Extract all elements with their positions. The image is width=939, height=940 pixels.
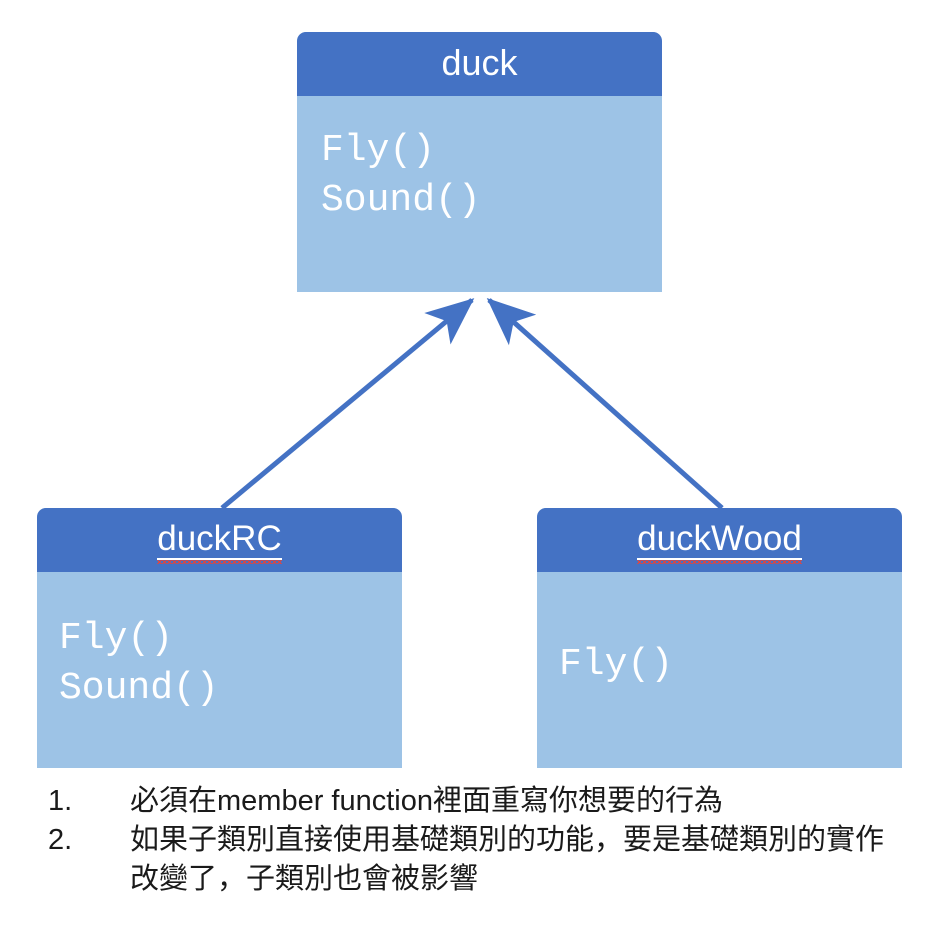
class-box-duckrc[interactable]: duckRC Fly() Sound() — [37, 508, 402, 768]
class-header-duckwood: duckWood — [537, 508, 902, 572]
class-body-duckwood: Fly() — [537, 572, 902, 690]
class-title-duckrc: duckRC — [157, 521, 281, 560]
spellcheck-squiggle — [157, 560, 281, 564]
arrow-duckrc-to-duck — [222, 300, 472, 508]
note-number: 2. — [48, 821, 130, 860]
note-item: 1. 必須在member function裡面重寫你想要的行為 — [48, 782, 908, 821]
arrow-duckwood-to-duck — [489, 300, 722, 508]
class-body-duck: Fly() Sound() — [297, 96, 662, 226]
class-box-duckwood[interactable]: duckWood Fly() — [537, 508, 902, 768]
note-text: 如果子類別直接使用基礎類別的功能，要是基礎類別的實作改變了，子類別也會被影響 — [130, 821, 908, 899]
note-text: 必須在member function裡面重寫你想要的行為 — [130, 782, 908, 821]
note-number: 1. — [48, 782, 130, 821]
class-body-duckrc: Fly() Sound() — [37, 572, 402, 714]
class-title-duck: duck — [441, 45, 517, 83]
method-duckrc-1: Sound() — [59, 664, 380, 714]
method-duck-0: Fly() — [321, 126, 640, 176]
class-title-duckwood: duckWood — [637, 521, 802, 560]
class-box-duck[interactable]: duck Fly() Sound() — [297, 32, 662, 292]
class-header-duck: duck — [297, 32, 662, 96]
method-duckrc-0: Fly() — [59, 614, 380, 664]
method-duck-1: Sound() — [321, 176, 640, 226]
spellcheck-squiggle — [637, 560, 802, 564]
class-header-duckrc: duckRC — [37, 508, 402, 572]
notes-list: 1. 必須在member function裡面重寫你想要的行為 2. 如果子類別… — [48, 782, 908, 899]
diagram-canvas: duck Fly() Sound() duckRC Fly() Sound() … — [0, 0, 939, 940]
method-duckwood-0: Fly() — [559, 640, 880, 690]
note-item: 2. 如果子類別直接使用基礎類別的功能，要是基礎類別的實作改變了，子類別也會被影… — [48, 821, 908, 899]
